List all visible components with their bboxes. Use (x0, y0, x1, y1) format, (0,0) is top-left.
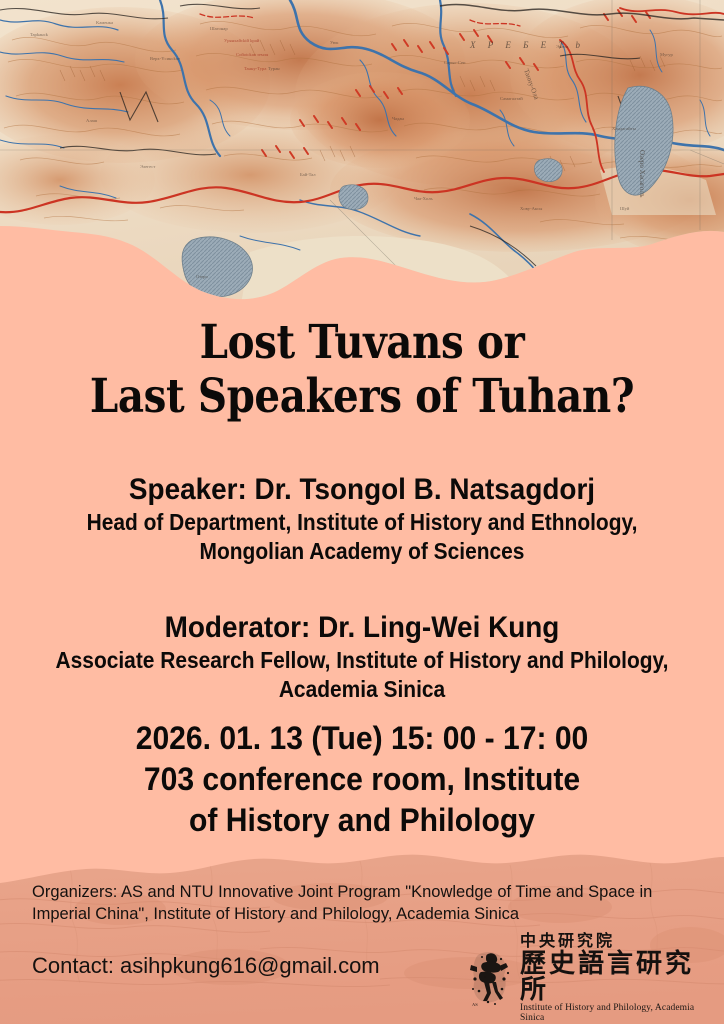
svg-text:AS: AS (472, 1002, 478, 1007)
svg-text:Caмaгaлтaй: Caмaгaлтaй (500, 96, 523, 101)
title-line-1: Lost Tuvans or (51, 316, 674, 370)
svg-text:Kaмeнкa: Kaмeнкa (96, 20, 113, 25)
title-line-2: Last Speakers of Tuhan? (51, 370, 674, 424)
poster-root: TapkaнckKaмeнкa Bepx-YcинckoeШaгoнap Typ… (0, 0, 724, 1024)
speaker-block: Speaker: Dr. Tsongol B. Natsagdorj Head … (0, 472, 724, 566)
svg-text:Oзepo: Oзepo (196, 274, 208, 279)
svg-text:Шуй: Шуй (620, 206, 630, 211)
event-venue-line-1: 703 conference room, Institute (22, 759, 703, 800)
svg-text:Coйotckaя зeмля: Coйotckaя зeмля (236, 52, 269, 57)
svg-text:Шaгoнap: Шaгoнap (210, 26, 228, 31)
svg-text:Taннy-Typa: Taннy-Typa (244, 66, 266, 71)
event-details-block: 2026. 01. 13 (Tue) 15: 00 - 17: 00 703 c… (0, 718, 724, 841)
svg-text:Bepx-Ycинckoe: Bepx-Ycинckoe (150, 56, 180, 61)
svg-text:Уюк: Уюк (330, 40, 339, 45)
speaker-affiliation-line-2: Mongolian Academy of Sciences (33, 537, 692, 566)
logo-cn-small: 中央研究院 (520, 933, 716, 949)
svg-text:Чaдaн: Чaдaн (392, 116, 404, 121)
map-artwork: TapkaнckKaмeнкa Bepx-YcинckoeШaгoнap Typ… (0, 0, 724, 310)
contact-text[interactable]: Contact: asihpkung616@gmail.com (32, 952, 380, 980)
event-datetime: 2026. 01. 13 (Tue) 15: 00 - 17: 00 (22, 718, 703, 759)
svg-text:Бaй-Taл: Бaй-Taл (300, 172, 316, 177)
svg-text:Tapkaнck: Tapkaнck (30, 32, 49, 37)
svg-text:Элeгecт: Элeгecт (140, 164, 155, 169)
svg-text:Aлaш: Aлaш (86, 118, 98, 123)
speaker-name: Speaker: Dr. Tsongol B. Natsagdorj (25, 472, 698, 508)
svg-text:X P E Б E T b: X P E Б E T b (469, 40, 585, 50)
logo-cn-big: 歷史語言研究所 (520, 951, 716, 1003)
page-title: Lost Tuvans or Last Speakers of Tuhan? (0, 316, 724, 424)
svg-text:Oзepo Xacaгoлъ: Oзepo Xacaгoлъ (638, 150, 646, 198)
moderator-affiliation-line-1: Associate Research Fellow, Institute of … (33, 646, 692, 675)
svg-text:Mугуp: Mугуp (660, 52, 674, 57)
svg-text:Typaн: Typaн (268, 66, 280, 71)
event-venue-line-2: of History and Philology (22, 800, 703, 841)
academia-sinica-logo: AS 中央研究院 歷史語言研究所 Institute of History an… (468, 946, 716, 1010)
svg-text:Уpянxaйckiй kpaй: Уpянxaйckiй kpaй (224, 38, 260, 43)
map-banner-image: TapkaнckKaмeнкa Bepx-YcинckoeШaгoнap Typ… (0, 0, 724, 310)
organizers-text: Organizers: AS and NTU Innovative Joint … (32, 881, 672, 925)
moderator-name: Moderator: Dr. Ling-Wei Kung (25, 610, 698, 646)
academia-sinica-rubbing-emblem: AS (468, 949, 514, 1007)
logo-en: Institute of History and Philology, Acad… (520, 1004, 716, 1023)
logo-text-group: 中央研究院 歷史語言研究所 Institute of History and P… (520, 933, 716, 1023)
svg-text:Capыг-Ceп: Capыг-Ceп (444, 60, 466, 65)
moderator-affiliation-line-2: Academia Sinica (33, 675, 692, 704)
svg-text:Xoвy-Aкcы: Xoвy-Aкcы (520, 206, 542, 211)
speaker-affiliation-line-1: Head of Department, Institute of History… (33, 508, 692, 537)
svg-text:Чaa-Xoль: Чaa-Xoль (414, 196, 433, 201)
svg-text:Xaндaгaйты: Xaндaгaйты (612, 126, 636, 131)
moderator-block: Moderator: Dr. Ling-Wei Kung Associate R… (0, 610, 724, 704)
